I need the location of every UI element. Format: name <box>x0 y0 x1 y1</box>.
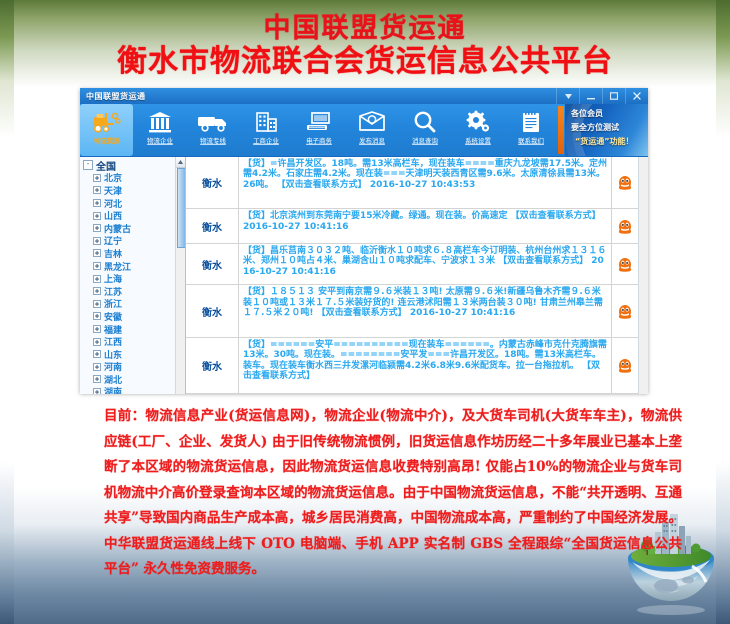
qq-contact-icon[interactable] <box>611 209 638 243</box>
tree-node-label: 湖北 <box>104 373 122 386</box>
tree-node-label: 辽宁 <box>104 234 122 247</box>
window-titlebar: 中国联盟货运通 <box>80 88 648 104</box>
tree-node-province[interactable]: 北京 <box>80 172 185 185</box>
row-message[interactable]: 【货】昌乐莒南３０３２吨、临沂衡水１０吨求６.８高栏车今订明装、杭州台州求１３１… <box>239 244 611 284</box>
toolbar-label-dedicated-line: 物流专线 <box>200 137 226 145</box>
tree-node-province[interactable]: 安徽 <box>80 310 185 323</box>
tree-scrollbar[interactable] <box>175 157 185 394</box>
toolbar-label-publish-message: 发布消息 <box>359 137 385 145</box>
row-city: 衡水 <box>186 157 239 208</box>
toolbar-item-cargo-source[interactable]: 物流货源 <box>80 104 133 156</box>
table-row[interactable]: 衡水【货】======安平==========现在装车======。内蒙古赤峰市… <box>186 338 638 394</box>
tree-node-province[interactable]: 江苏 <box>80 285 185 298</box>
scroll-up-icon[interactable] <box>176 157 185 168</box>
computer-icon <box>305 107 333 137</box>
tree-node-province[interactable]: 吉林 <box>80 247 185 260</box>
toolbar-item-industrial-company[interactable]: 工商企业 <box>239 104 292 156</box>
toolbar-label-logistics-company: 物流企业 <box>147 137 173 145</box>
tree-node-label: 河北 <box>104 197 122 210</box>
qq-contact-icon[interactable] <box>611 285 638 336</box>
tree-toggle-icon[interactable]: - <box>83 160 93 170</box>
tree-node-province[interactable]: 江西 <box>80 335 185 348</box>
office-icon <box>253 107 279 137</box>
window-title: 中国联盟货运通 <box>80 91 146 102</box>
tree-node-province[interactable]: 湖南 <box>80 386 185 394</box>
toolbar-item-logistics-company[interactable]: 物流企业 <box>133 104 186 156</box>
tree-node-label: 北京 <box>104 171 122 184</box>
tree-expand-icon[interactable] <box>93 237 101 245</box>
row-city: 衡水 <box>186 244 239 284</box>
qq-contact-icon[interactable] <box>611 338 638 393</box>
row-message-text: 【货】昌乐莒南３０３２吨、临沂衡水１０吨求６.８高栏车今订明装、杭州台州求１３１… <box>243 246 606 266</box>
minimize-icon[interactable] <box>579 88 602 104</box>
description-paragraph: 目前：物流信息产业(货运信息网)，物流企业(物流中介)，及大货车司机(大货车车主… <box>62 404 682 583</box>
toolbar-label-message-query: 消息查询 <box>412 137 438 145</box>
qq-contact-icon[interactable] <box>611 157 638 208</box>
toolbar-item-message-query[interactable]: 消息查询 <box>398 104 451 156</box>
tree-expand-icon[interactable] <box>93 262 101 270</box>
toolbar-label-system-settings: 系统设置 <box>465 137 491 145</box>
window-controls <box>556 88 648 104</box>
tree-node-national[interactable]: - 全国 <box>80 159 185 172</box>
tree-node-label: 上海 <box>104 272 122 285</box>
toolbar-label-cargo-source: 物流货源 <box>94 137 120 145</box>
tree-node-label: 山东 <box>104 348 122 361</box>
tree-expand-icon[interactable] <box>93 350 101 358</box>
toolbar-label-contact-us: 联系我们 <box>518 137 544 145</box>
tree-node-label: 山西 <box>104 209 122 222</box>
tree-expand-icon[interactable] <box>93 275 101 283</box>
tree-node-label: 福建 <box>104 323 122 336</box>
banner-line-2: 要全方位测试 <box>571 122 619 133</box>
table-row[interactable]: 衡水【货】昌乐莒南３０３２吨、临沂衡水１０吨求６.８高栏车今订明装、杭州台州求１… <box>186 244 638 285</box>
tree-expand-icon[interactable] <box>93 312 101 320</box>
row-city: 衡水 <box>186 285 239 336</box>
headline-line-1: 中国联盟货运通 <box>0 14 730 44</box>
search-icon <box>412 107 438 137</box>
tree-expand-icon[interactable] <box>93 186 101 194</box>
tree-node-province[interactable]: 山西 <box>80 209 185 222</box>
tree-node-label: 江西 <box>104 335 122 348</box>
region-tree: - 全国 北京天津河北山西内蒙古辽宁吉林黑龙江上海江苏浙江安徽福建江西山东河南湖… <box>80 157 186 394</box>
building-icon <box>147 107 173 137</box>
toolbar-item-publish-message[interactable]: 发布消息 <box>345 104 398 156</box>
tree-node-province[interactable]: 福建 <box>80 323 185 336</box>
toolbar-item-dedicated-line[interactable]: 物流专线 <box>186 104 239 156</box>
tree-node-province[interactable]: 湖北 <box>80 373 185 386</box>
forklift-icon <box>92 107 122 137</box>
row-message-text: 【货】======安平==========现在装车======。内蒙古赤峰市克什… <box>243 340 607 381</box>
tree-node-label: 黑龙江 <box>104 260 131 273</box>
document-icon <box>519 107 543 137</box>
list-scrollbar[interactable] <box>638 157 648 394</box>
toolbar-item-ecommerce[interactable]: 电子商务 <box>292 104 345 156</box>
table-row[interactable]: 衡水【货】１８５１３ 安平到南京需９.６米装１３吨! 太原需９.６米!新疆乌鲁木… <box>186 285 638 337</box>
toolbar-label-ecommerce: 电子商务 <box>306 137 332 145</box>
tree-node-province[interactable]: 辽宁 <box>80 235 185 248</box>
application-window: 中国联盟货运通 <box>80 88 648 393</box>
table-row[interactable]: 衡水【货】=许昌开发区。18吨。需13米高栏车，现在装车====重庆九龙坡需17… <box>186 157 638 209</box>
envelope-icon <box>358 107 386 137</box>
page-left-edge <box>0 0 14 624</box>
tree-node-province[interactable]: 浙江 <box>80 298 185 311</box>
toolbar-divider <box>558 106 564 154</box>
dropdown-icon[interactable] <box>556 88 579 104</box>
truck-icon <box>197 107 229 137</box>
tree-expand-icon[interactable] <box>93 300 101 308</box>
tree-expand-icon[interactable] <box>93 249 101 257</box>
banner-line-1: 各位会员 <box>571 108 603 119</box>
qq-contact-icon[interactable] <box>611 244 638 284</box>
page-headline: 中国联盟货运通 衡水市物流联合会货运信息公共平台 <box>0 14 730 80</box>
tree-node-province[interactable]: 山东 <box>80 348 185 361</box>
tree-expand-icon[interactable] <box>93 174 101 182</box>
tree-node-label: 浙江 <box>104 297 122 310</box>
tree-node-province[interactable]: 黑龙江 <box>80 260 185 273</box>
row-timestamp: 2016-10-27 10:41:16 <box>410 308 515 318</box>
row-timestamp: 2016-10-27 10:43:53 <box>370 180 475 190</box>
row-message[interactable]: 【货】北京滨州到东莞南宁要15米冷藏。绿通。现在装。价高速定 【双击查看联系方式… <box>239 209 611 243</box>
tree-expand-icon[interactable] <box>93 199 101 207</box>
toolbar-label-industrial-company: 工商企业 <box>253 137 279 145</box>
row-message[interactable]: 【货】１８５１３ 安平到南京需９.６米装１３吨! 太原需９.６米!新疆乌鲁木齐需… <box>239 285 611 336</box>
app-body: - 全国 北京天津河北山西内蒙古辽宁吉林黑龙江上海江苏浙江安徽福建江西山东河南湖… <box>80 156 648 394</box>
row-message[interactable]: 【货】======安平==========现在装车======。内蒙古赤峰市克什… <box>239 338 611 393</box>
row-city: 衡水 <box>186 338 239 393</box>
tree-node-province[interactable]: 内蒙古 <box>80 222 185 235</box>
tree-node-label: 天津 <box>104 184 122 197</box>
toolbar-item-system-settings[interactable]: 系统设置 <box>451 104 504 156</box>
member-notice-banner[interactable]: 各位会员 要全方位测试 “货运通”功能！ <box>565 104 648 156</box>
row-message-text: 【货】北京滨州到东莞南宁要15米冷藏。绿通。现在装。价高速定 【双击查看联系方式… <box>243 211 601 221</box>
scrollbar-thumb[interactable] <box>177 168 186 248</box>
tree-node-province[interactable]: 河北 <box>80 197 185 210</box>
tree-expand-icon[interactable] <box>93 287 101 295</box>
row-message[interactable]: 【货】=许昌开发区。18吨。需13米高栏车，现在装车====重庆九龙坡需17.5… <box>239 157 611 208</box>
tree-node-label: 江苏 <box>104 285 122 298</box>
description-text: 目前：物流信息产业(货运信息网)，物流企业(物流中介)，及大货车司机(大货车车主… <box>62 404 682 583</box>
row-timestamp: 2016-10-27 10:41:16 <box>243 222 348 232</box>
table-row[interactable]: 衡水【货】北京滨州到东莞南宁要15米冷藏。绿通。现在装。价高速定 【双击查看联系… <box>186 209 638 244</box>
tree-expand-icon[interactable] <box>93 375 101 383</box>
tree-node-label: 河南 <box>104 360 122 373</box>
cargo-message-list: 衡水【货】=许昌开发区。18吨。需13米高栏车，现在装车====重庆九龙坡需17… <box>186 157 638 394</box>
banner-line-3: “货运通”功能！ <box>575 136 634 147</box>
headline-line-2: 衡水市物流联合会货运信息公共平台 <box>0 44 730 80</box>
maximize-icon[interactable] <box>602 88 625 104</box>
tree-expand-icon[interactable] <box>93 363 101 371</box>
tree-expand-icon[interactable] <box>93 388 101 394</box>
tree-expand-icon[interactable] <box>93 212 101 220</box>
tree-node-province[interactable]: 天津 <box>80 184 185 197</box>
toolbar-item-contact-us[interactable]: 联系我们 <box>504 104 557 156</box>
row-city: 衡水 <box>186 209 239 243</box>
tree-expand-icon[interactable] <box>93 325 101 333</box>
tree-node-province[interactable]: 河南 <box>80 361 185 374</box>
tree-node-label: 安徽 <box>104 310 122 323</box>
tree-node-label: 内蒙古 <box>104 222 131 235</box>
gear-icon <box>464 107 492 137</box>
tree-expand-icon[interactable] <box>93 224 101 232</box>
tree-node-label: 吉林 <box>104 247 122 260</box>
tree-node-province[interactable]: 上海 <box>80 272 185 285</box>
close-icon[interactable] <box>625 88 648 104</box>
tree-node-label: 湖南 <box>104 385 122 394</box>
tree-expand-icon[interactable] <box>93 338 101 346</box>
app-toolbar: 物流货源 物流企业 <box>80 104 648 156</box>
